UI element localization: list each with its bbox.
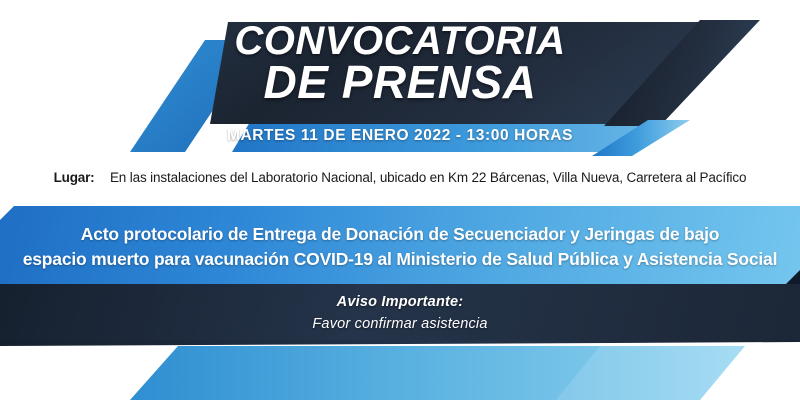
footer-shapes [0, 340, 800, 400]
venue-value: En las instalaciones del Laboratorio Nac… [110, 170, 746, 185]
announcement-text: Acto protocolario de Entrega de Donación… [0, 222, 800, 272]
venue-row: Lugar: En las instalaciones del Laborato… [0, 170, 800, 185]
notice-text-group: Aviso Importante: Favor confirmar asiste… [0, 292, 800, 336]
announcement-line-2: espacio muerto para vacunación COVID-19 … [0, 247, 800, 272]
press-conference-flyer: CONVOCATORIA DE PRENSA MARTES 11 DE ENER… [0, 0, 800, 400]
footer-top-sliver [0, 340, 800, 346]
announcement-line-1: Acto protocolario de Entrega de Donación… [0, 222, 800, 247]
notice-heading: Aviso Importante: [0, 292, 800, 314]
footer-bar: Trabajando por la salud de Guatemala NO … [0, 340, 800, 400]
notice-body: Favor confirmar asistencia [0, 314, 800, 336]
main-announcement-banner: Acto protocolario de Entrega de Donación… [0, 206, 800, 284]
notice-band: Aviso Importante: Favor confirmar asiste… [0, 284, 800, 346]
venue-label: Lugar: [54, 170, 95, 185]
